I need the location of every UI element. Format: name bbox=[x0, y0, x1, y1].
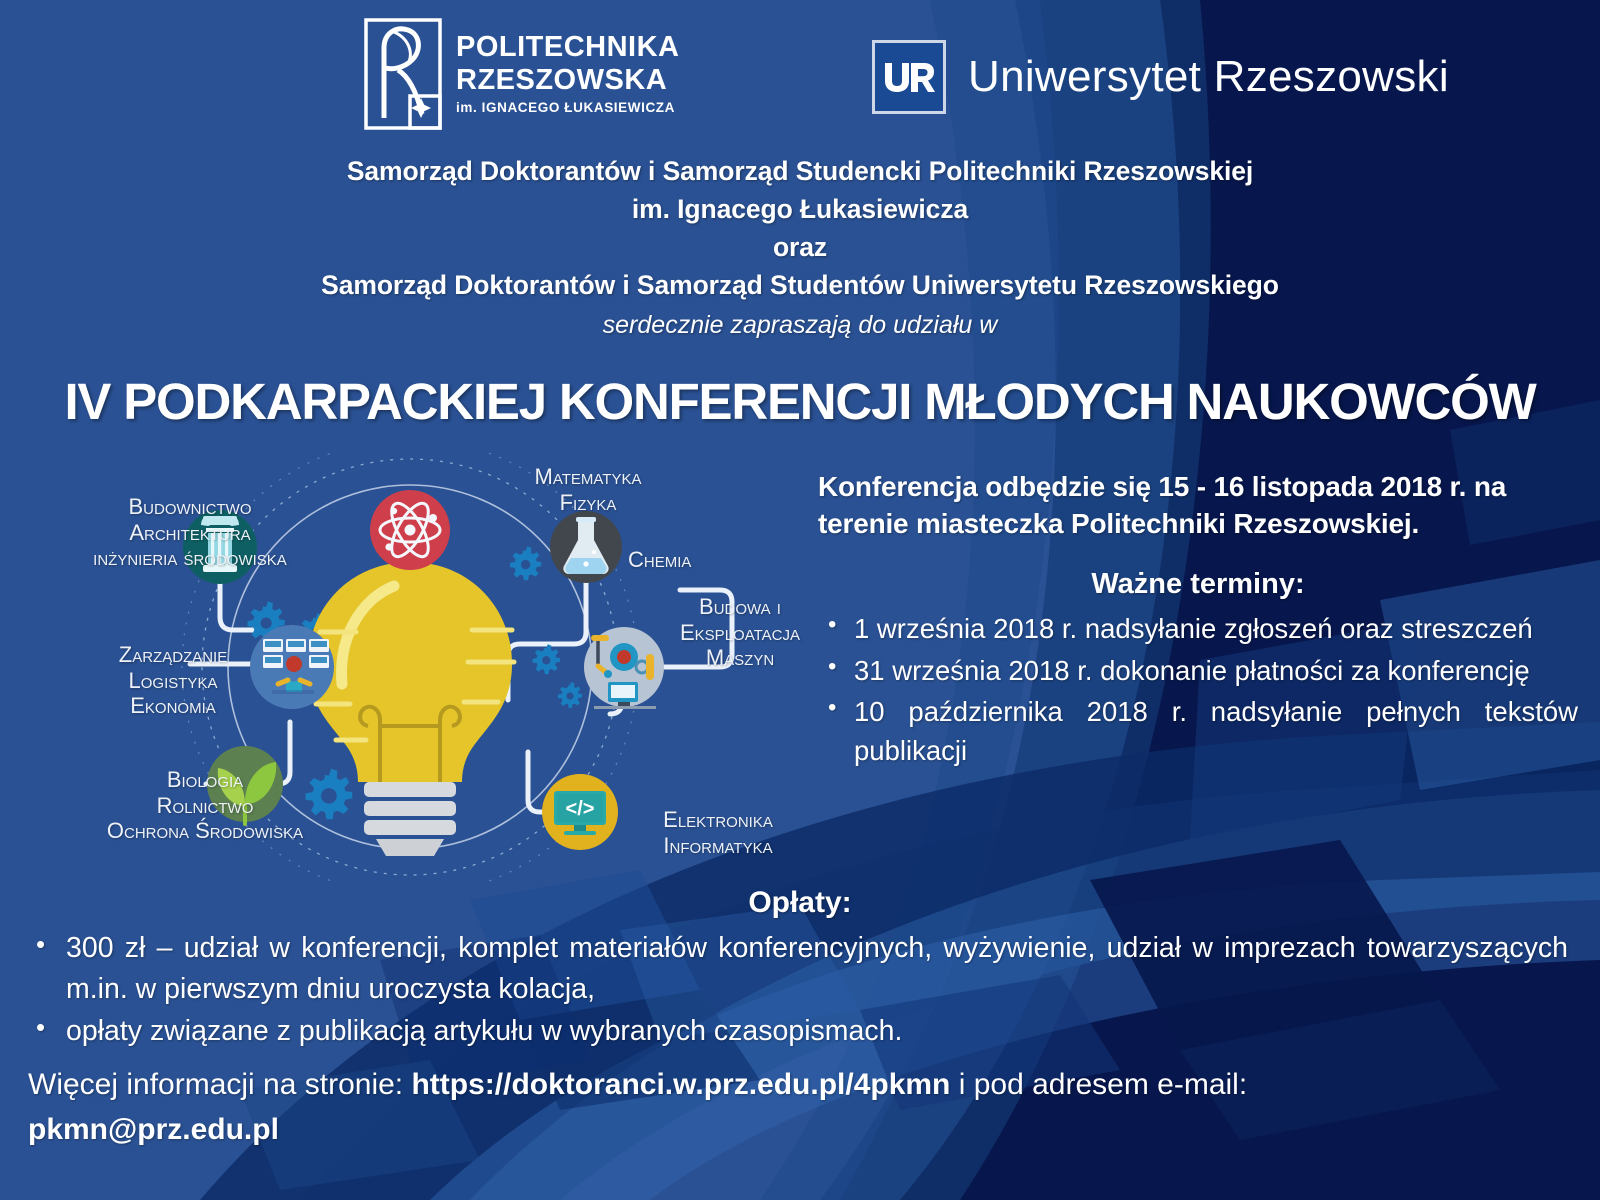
list-item: opłaty związane z publikacją artykułu w … bbox=[28, 1011, 1568, 1052]
contact-info: Więcej informacji na stronie: https://do… bbox=[28, 1062, 1573, 1152]
organizers-header: Samorząd Doktorantów i Samorząd Studenck… bbox=[0, 152, 1600, 340]
contact-email-link[interactable]: pkmn@prz.edu.pl bbox=[28, 1107, 1573, 1152]
topic-label-maszyny: Budowa i Eksploatacja Maszyn bbox=[660, 594, 820, 671]
fees-list: 300 zł – udział w konferencji, komplet m… bbox=[28, 928, 1568, 1052]
prz-mark-icon bbox=[364, 18, 442, 130]
prz-line2: RZESZOWSKA bbox=[456, 66, 680, 95]
topic-label-zarzadzanie: Zarządzanie Logistyka Ekonomia bbox=[68, 642, 278, 719]
conference-date-venue: Konferencja odbędzie się 15 - 16 listopa… bbox=[818, 468, 1578, 542]
ur-mark-box bbox=[872, 40, 946, 114]
topic-icon-matematyka bbox=[370, 490, 450, 570]
terms-heading: Ważne terminy: bbox=[818, 568, 1578, 601]
topic-icon-maszyny bbox=[584, 627, 664, 709]
list-item: 10 października 2018 r. nadsyłanie pełny… bbox=[818, 692, 1578, 770]
contact-prefix: Więcej informacji na stronie: bbox=[28, 1068, 411, 1101]
logo-bar: POLITECHNIKA RZESZOWSKA im. IGNACEGO ŁUK… bbox=[0, 0, 1600, 150]
invitation-line: serdecznie zapraszają do udziału w bbox=[0, 311, 1600, 340]
svg-text:</>: </> bbox=[566, 798, 595, 820]
list-item: 300 zł – udział w konferencji, komplet m… bbox=[28, 928, 1568, 1010]
topic-label-informatyka: Elektronika Informatyka bbox=[628, 807, 808, 858]
politechnika-rzeszowska-logo: POLITECHNIKA RZESZOWSKA im. IGNACEGO ŁUK… bbox=[364, 18, 680, 130]
uniwersytet-rzeszowski-logo: Uniwersytet Rzeszowski bbox=[872, 40, 1449, 114]
org-line-3: oraz bbox=[0, 228, 1600, 266]
topic-label-biologia: Biologia Rolnictwo Ochrona Środowiska bbox=[75, 767, 335, 844]
important-dates-list: 1 września 2018 r. nadsyłanie zgłoszeń o… bbox=[818, 609, 1578, 769]
prz-line1: POLITECHNIKA bbox=[456, 33, 680, 62]
topic-icon-chemia bbox=[550, 511, 622, 583]
conference-website-link[interactable]: https://doktoranci.w.prz.edu.pl/4pkmn bbox=[411, 1068, 950, 1101]
org-line-2: im. Ignacego Łukasiewicza bbox=[0, 190, 1600, 228]
conference-poster: POLITECHNIKA RZESZOWSKA im. IGNACEGO ŁUK… bbox=[0, 0, 1600, 1200]
prz-wordmark: POLITECHNIKA RZESZOWSKA im. IGNACEGO ŁUK… bbox=[456, 33, 680, 115]
contact-middle: i pod adresem e-mail: bbox=[950, 1068, 1247, 1101]
conference-details: Konferencja odbędzie się 15 - 16 listopa… bbox=[818, 468, 1578, 772]
topic-icon-informatyka: </> bbox=[542, 774, 618, 850]
topic-label-matematyka: Matematyka Fizyka bbox=[488, 464, 688, 515]
lightbulb-icon bbox=[308, 562, 514, 856]
page-title: IV PODKARPACKIEJ KONFERENCJI MŁODYCH NAU… bbox=[0, 372, 1600, 431]
prz-line3: im. IGNACEGO ŁUKASIEWICZA bbox=[456, 101, 680, 115]
org-line-1: Samorząd Doktorantów i Samorząd Studenck… bbox=[0, 152, 1600, 190]
list-item: 31 września 2018 r. dokonanie płatności … bbox=[818, 651, 1578, 690]
topic-label-chemia: Chemia bbox=[628, 547, 691, 573]
ur-wordmark: Uniwersytet Rzeszowski bbox=[968, 52, 1449, 102]
list-item: 1 września 2018 r. nadsyłanie zgłoszeń o… bbox=[818, 609, 1578, 648]
topic-label-budownictwo: Budownictwo Architektura inżynieria środ… bbox=[60, 494, 320, 571]
fees-heading: Opłaty: bbox=[0, 886, 1600, 920]
ur-monogram-icon bbox=[883, 59, 935, 95]
org-line-4: Samorząd Doktorantów i Samorząd Studentó… bbox=[0, 266, 1600, 304]
topics-infographic: </> bbox=[20, 452, 820, 882]
